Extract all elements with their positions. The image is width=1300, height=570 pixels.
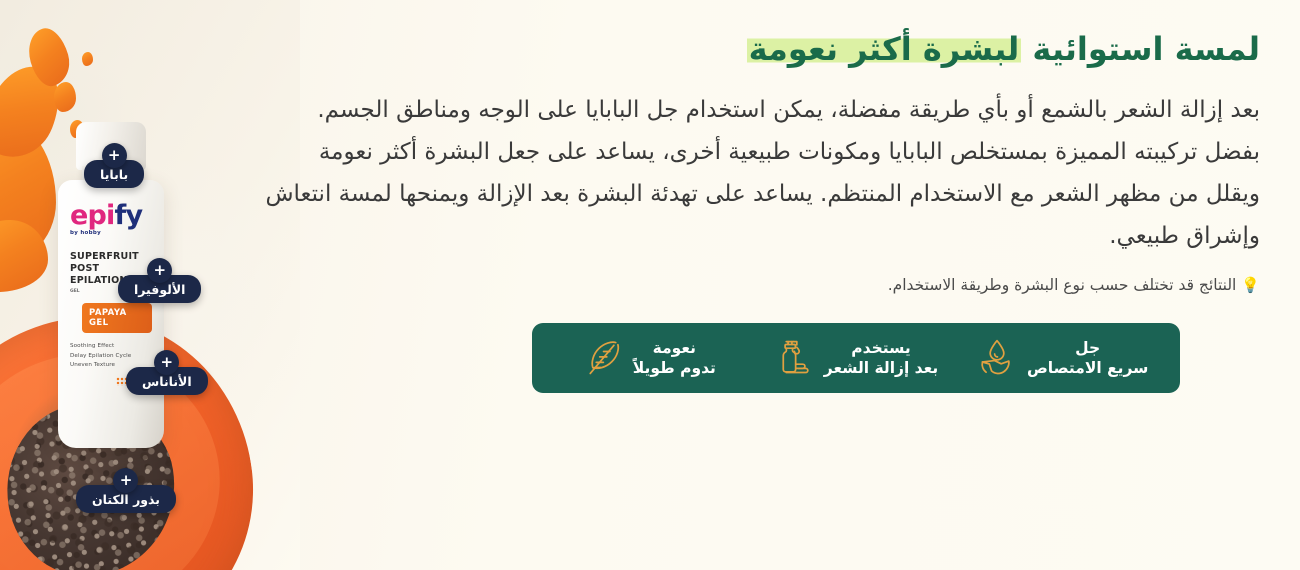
brand-logo-part2: fy — [115, 200, 143, 231]
headline-highlight: لبشرة أكثر نعومة — [747, 30, 1022, 68]
feature-line-1: يستخدم — [824, 338, 938, 358]
ingredient-pin-flaxseed[interactable]: + بذور الكتان — [76, 468, 176, 513]
badge-line-2: GEL — [89, 318, 145, 328]
pump-bottle-hand-icon — [774, 337, 814, 379]
brand-logo: epify — [70, 202, 152, 229]
ingredient-pin-aloevera[interactable]: + الألوفيرا — [118, 258, 201, 303]
product-banner: epify by hobby SUPERFRUIT POST EPILATION… — [0, 0, 1300, 570]
feature-text: يستخدم بعد إزالة الشعر — [824, 338, 938, 379]
feature-use-after-hair-removal: يستخدم بعد إزالة الشعر — [753, 337, 960, 379]
bottle-label: epify by hobby SUPERFRUIT POST EPILATION… — [58, 180, 164, 448]
feature-line-1: نعومة — [633, 338, 716, 358]
brand-logo-part1: epi — [70, 200, 115, 231]
badge-line-1: PAPAYA — [89, 308, 145, 318]
feature-text: جل سريع الامتصاص — [1027, 338, 1148, 379]
feature-text: نعومة تدوم طويلاً — [633, 338, 716, 379]
feature-line-2: سريع الامتصاص — [1027, 358, 1148, 378]
feature-line-1: جل — [1027, 338, 1148, 358]
feature-line-2: بعد إزالة الشعر — [824, 358, 938, 378]
plus-icon[interactable]: + — [102, 143, 127, 168]
ingredient-pin-pineapple[interactable]: + الأناناس — [126, 350, 208, 395]
page-title: لمسة استوائية لبشرة أكثر نعومة — [250, 26, 1260, 72]
feature-fast-absorption: جل سريع الامتصاص — [959, 337, 1166, 379]
papaya-gel-badge: PAPAYA GEL — [82, 303, 152, 334]
results-disclaimer-text: النتائج قد تختلف حسب نوع البشرة وطريقة ا… — [888, 276, 1237, 294]
lightbulb-icon: 💡 — [1241, 276, 1260, 294]
feature-long-lasting-softness: نعومة تدوم طويلاً — [546, 337, 753, 379]
results-disclaimer: 💡 النتائج قد تختلف حسب نوع البشرة وطريقة… — [250, 274, 1260, 297]
feature-line-2: تدوم طويلاً — [633, 358, 716, 378]
headline-prefix: لمسة استوائية — [1021, 30, 1260, 68]
feather-icon — [583, 337, 623, 379]
ingredient-pin-papaya[interactable]: + بابايا — [84, 143, 144, 188]
content-panel: لمسة استوائية لبشرة أكثر نعومة بعد إزالة… — [250, 0, 1300, 570]
droplet-leaf-icon — [977, 337, 1017, 379]
body-description: بعد إزالة الشعر بالشمع أو بأي طريقة مفضل… — [250, 90, 1260, 257]
features-bar: جل سريع الامتصاص يستخدم بعد إزالة الشعر — [532, 323, 1180, 393]
